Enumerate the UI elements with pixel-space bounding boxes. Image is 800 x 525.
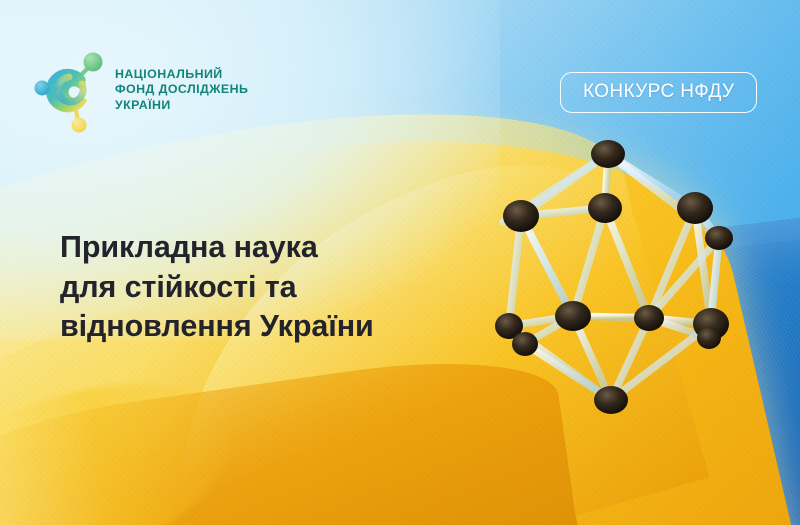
headline-line-1: Прикладна наука <box>60 228 490 268</box>
nfdu-spiral-molecule-logo-icon <box>32 44 106 136</box>
headline-line-3: відновлення України <box>60 307 490 347</box>
logo-line-3: УКРАЇНИ <box>115 98 248 113</box>
logo-wordmark: НАЦІОНАЛЬНИЙ ФОНД ДОСЛІДЖЕНЬ УКРАЇНИ <box>115 67 248 112</box>
logo-line-1: НАЦІОНАЛЬНИЙ <box>115 67 248 82</box>
headline-line-2: для стійкості та <box>60 268 490 308</box>
page-title: Прикладна наука для стійкості та відновл… <box>60 228 490 347</box>
logo-line-2: ФОНД ДОСЛІДЖЕНЬ <box>115 82 248 97</box>
contest-badge[interactable]: КОНКУРС НФДУ <box>560 72 757 113</box>
nfdu-logo[interactable]: НАЦІОНАЛЬНИЙ ФОНД ДОСЛІДЖЕНЬ УКРАЇНИ <box>32 44 248 136</box>
glass-icosahedron <box>463 138 753 428</box>
promo-banner: НАЦІОНАЛЬНИЙ ФОНД ДОСЛІДЖЕНЬ УКРАЇНИ КОН… <box>0 0 800 525</box>
